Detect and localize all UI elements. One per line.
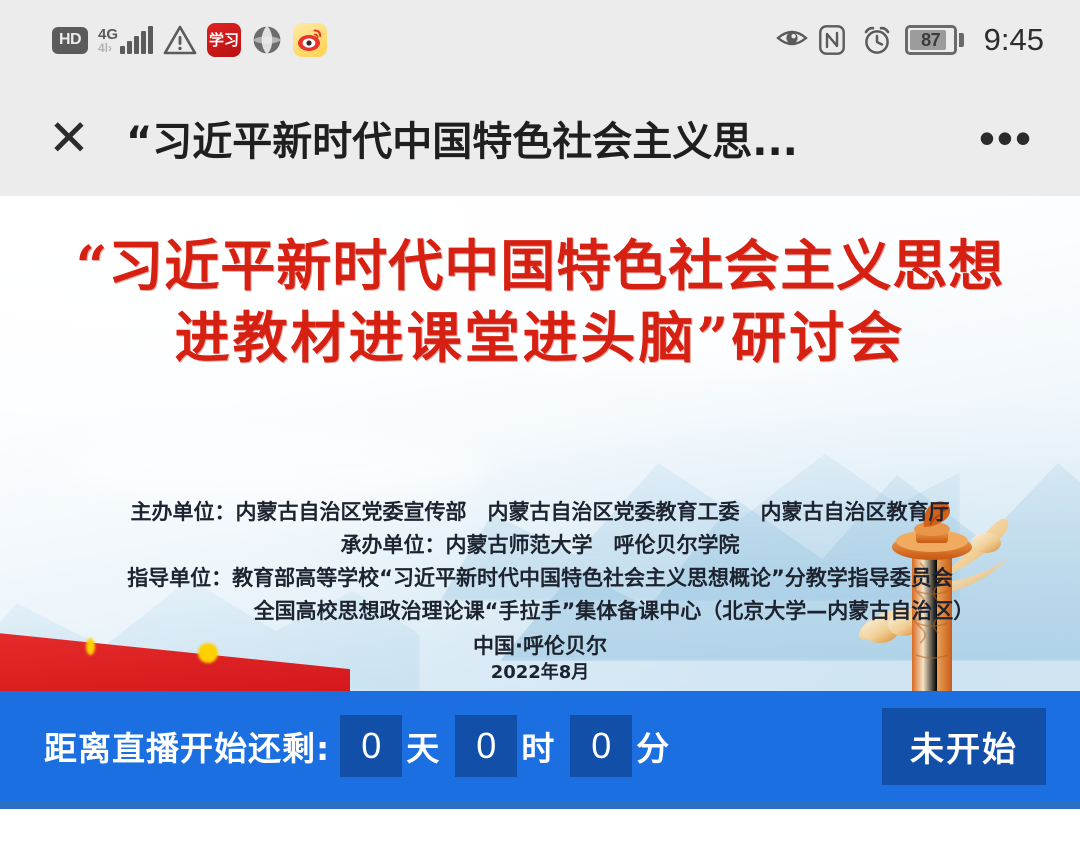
venue-block: 中国·呼伦贝尔 2022年8月 [0,633,1080,685]
organizer-block: 主办单位：内蒙古自治区党委宣传部 内蒙古自治区党委教育工委 内蒙古自治区教育厅 … [0,496,1080,628]
signal-4g-label: 4G [98,28,118,42]
alarm-clock-icon [862,25,892,55]
nfc-icon [819,25,849,55]
close-icon[interactable]: ✕ [34,103,104,173]
banner-title: “习近平新时代中国特色社会主义思想 进教材进课堂进头脑”研讨会 [0,230,1080,374]
more-options-icon[interactable]: ••• [966,129,1046,147]
navigation-bar: ✕ “习近平新时代中国特色社会主义思... ••• [0,80,1080,196]
cloud-decoration [60,426,480,506]
organizer-row-undertaker: 承办单位：内蒙古师范大学 呼伦贝尔学院 [0,529,1080,562]
page-content-below [0,809,1080,850]
globe-icon [251,24,283,56]
battery-percent-label: 87 [921,30,940,51]
status-bar: HD 4G 4l› 学习 [0,0,1080,80]
countdown-minutes-value: 0 [570,715,632,777]
countdown-days-value: 0 [340,715,402,777]
status-bar-clock: 9:45 [984,22,1044,58]
page-title: “习近平新时代中国特色社会主义思... [126,109,966,167]
signal-updown-label: 4l› [98,42,112,54]
warning-triangle-icon [163,25,197,55]
organizer-row-guidance: 指导单位：教育部高等学校“习近平新时代中国特色社会主义思想概论”分教学指导委员会 [0,562,1080,595]
hd-icon: HD [52,27,88,54]
organizer-row-host: 主办单位：内蒙古自治区党委宣传部 内蒙古自治区党委教育工委 内蒙古自治区教育厅 [0,496,1080,529]
status-bar-left-icons: HD 4G 4l› 学习 [52,23,327,57]
weibo-app-icon [293,23,327,57]
countdown-minutes-unit: 分 [636,722,669,770]
countdown-hours-unit: 时 [521,722,554,770]
countdown-days-unit: 天 [406,722,439,770]
eye-comfort-icon [776,25,806,55]
organizer-row-guidance-cont: 全国高校思想政治理论课“手拉手”集体备课中心（北京大学—内蒙古自治区） [0,595,1080,628]
live-status-badge[interactable]: 未开始 [882,708,1046,785]
battery-indicator: 87 [905,25,964,55]
banner-title-line2: 进教材进课堂进头脑”研讨会 [0,302,1080,374]
venue-date: 2022年8月 [0,660,1080,685]
countdown-bar-shadow [0,801,1080,809]
status-bar-right-icons: 87 9:45 [776,22,1044,58]
event-banner: “习近平新时代中国特色社会主义思想 进教材进课堂进头脑”研讨会 主办单位：内蒙古… [0,196,1080,691]
countdown-group: 距离直播开始还剩: 0 天 0 时 0 分 [44,715,675,777]
countdown-hours-value: 0 [455,715,517,777]
countdown-label: 距离直播开始还剩: [44,722,330,770]
xuexi-app-icon: 学习 [207,23,241,57]
banner-title-line1: “习近平新时代中国特色社会主义思想 [0,230,1080,302]
signal-4g-icon: 4G 4l› [98,26,153,54]
signal-bars-icon [120,26,153,54]
venue-location: 中国·呼伦贝尔 [0,633,1080,660]
countdown-bar: 距离直播开始还剩: 0 天 0 时 0 分 未开始 [0,691,1080,801]
